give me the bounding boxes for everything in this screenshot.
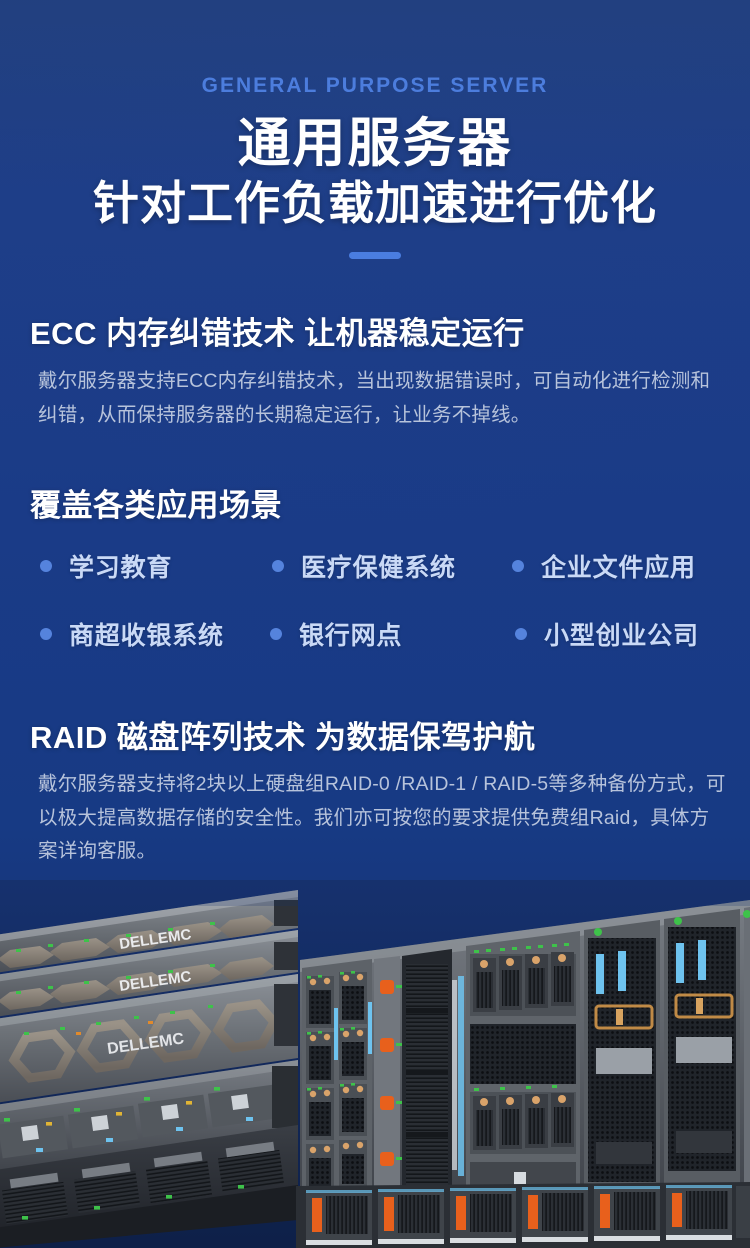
scenario-row-2: 商超收银系统 银行网点 小型创业公司: [0, 616, 750, 650]
bullet-dot-icon: [515, 628, 527, 640]
scenario-row-1: 学习教育 医疗保健系统 企业文件应用: [0, 548, 750, 582]
bullet-dot-icon: [272, 560, 284, 572]
section-heading-raid: RAID 磁盘阵列技术 为数据保驾护航: [30, 712, 536, 757]
section-body-raid: 戴尔服务器支持将2块以上硬盘组RAID-0 /RAID-1 / RAID-5等多…: [38, 768, 728, 869]
bullet-dot-icon: [40, 628, 52, 640]
server-rack-stack: DELLEMC: [0, 890, 298, 1248]
scenario-item-startup[interactable]: 小型创业公司: [515, 616, 699, 652]
scenario-item-education[interactable]: 学习教育: [40, 548, 172, 584]
scenario-item-retail-pos[interactable]: 商超收银系统: [40, 616, 224, 652]
section-heading-ecc: ECC 内存纠错技术 让机器稳定运行: [30, 308, 525, 353]
server-photo-illustration: DELLEMC: [0, 880, 750, 1248]
scenario-label: 小型创业公司: [544, 616, 699, 652]
product-detail-page: GENERAL PURPOSE SERVER 通用服务器 针对工作负载加速进行优…: [0, 0, 750, 1248]
page-subtitle: 针对工作负载加速进行优化: [0, 178, 750, 229]
bullet-dot-icon: [40, 560, 52, 572]
scenario-label: 商超收银系统: [69, 616, 224, 652]
page-title: 通用服务器: [0, 116, 750, 172]
section-body-ecc: 戴尔服务器支持ECC内存纠错技术，当出现数据错误时，可自动化进行检测和纠错，从而…: [38, 365, 728, 432]
scenario-label: 银行网点: [299, 616, 402, 652]
server-photo: DELLEMC: [0, 880, 750, 1248]
scenario-label: 医疗保健系统: [301, 548, 456, 584]
scenario-item-bank-branch[interactable]: 银行网点: [270, 616, 402, 652]
bullet-dot-icon: [512, 560, 524, 572]
page-eyebrow: GENERAL PURPOSE SERVER: [0, 74, 750, 98]
scenario-item-enterprise-files[interactable]: 企业文件应用: [512, 548, 696, 584]
section-heading-scenarios: 覆盖各类应用场景: [30, 480, 282, 525]
scenario-label: 学习教育: [69, 548, 172, 584]
scenario-label: 企业文件应用: [541, 548, 696, 584]
title-divider: [349, 252, 401, 259]
bullet-dot-icon: [270, 628, 282, 640]
scenario-item-healthcare[interactable]: 医疗保健系统: [272, 548, 456, 584]
server-bottom-drive-row: [296, 1182, 750, 1248]
